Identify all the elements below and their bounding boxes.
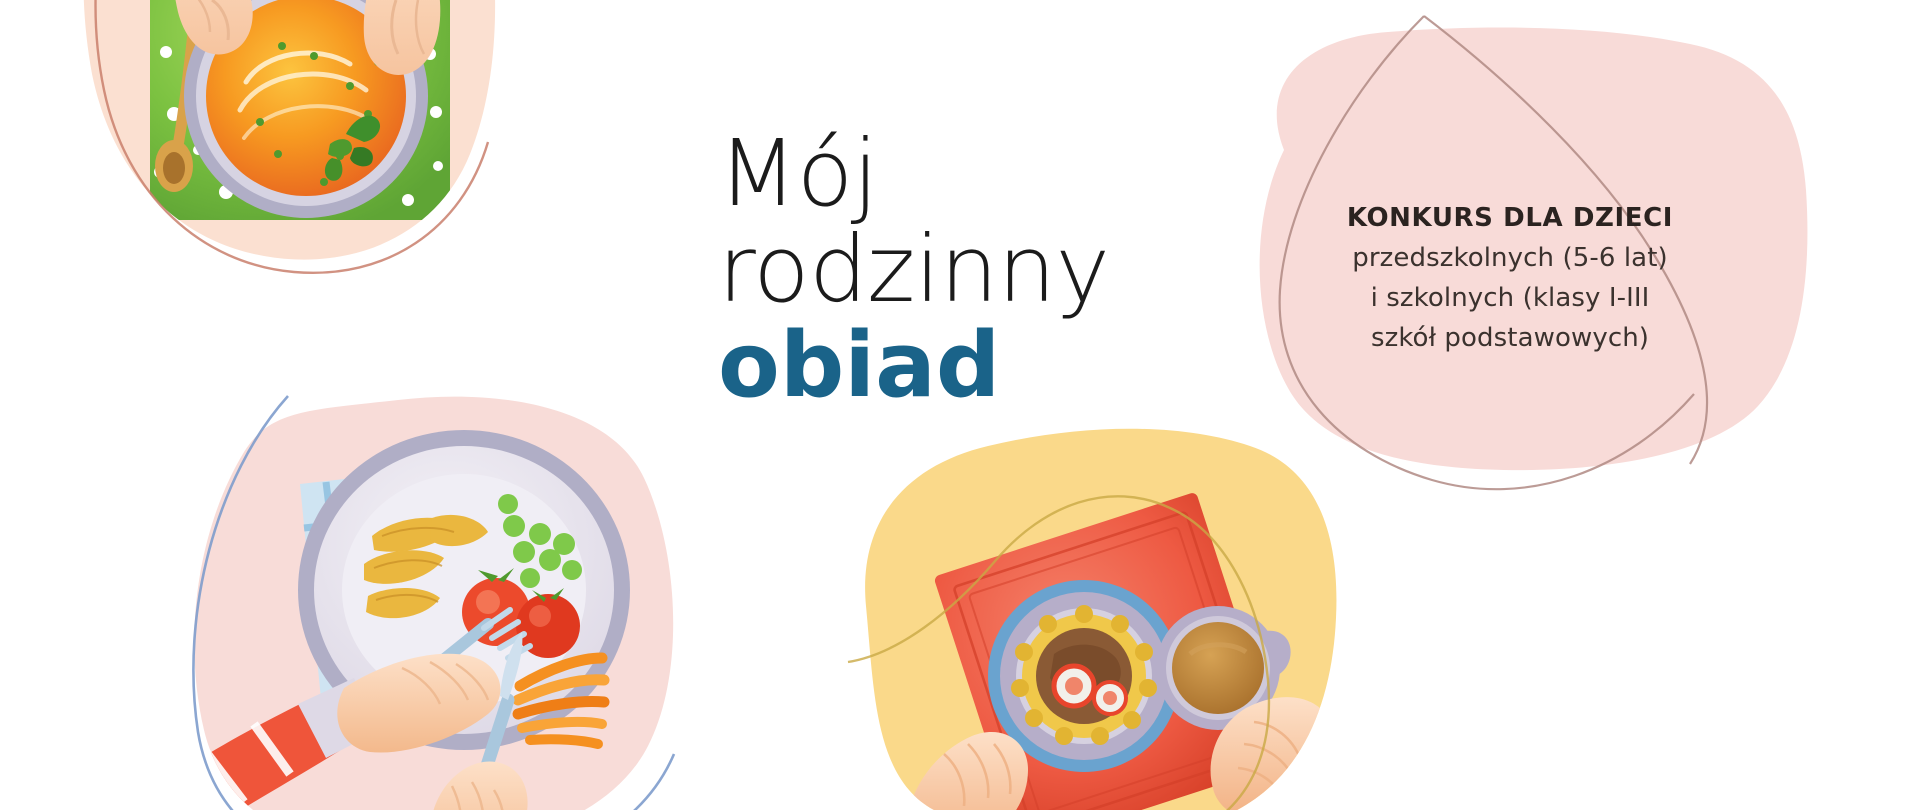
info-text-block: KONKURS DLA DZIECI przedszkolnych (5-6 l… xyxy=(1290,198,1730,358)
poster-title: Mój rodzinny obiad xyxy=(718,128,1178,412)
title-line-3: obiad xyxy=(718,320,1178,412)
poster-canvas: KONKURS DLA DZIECI przedszkolnych (5-6 l… xyxy=(0,0,1920,810)
info-line-2: przedszkolnych (5-6 lat) xyxy=(1290,238,1730,278)
plate-illustration-svg xyxy=(158,400,798,810)
info-line-3: i szkolnych (klasy I-III xyxy=(1290,278,1730,318)
illustration-soup-bowl xyxy=(78,0,558,424)
illustration-dinner-plate xyxy=(158,400,798,810)
info-headline: KONKURS DLA DZIECI xyxy=(1290,198,1730,238)
soup-illustration-svg xyxy=(78,0,558,424)
title-line-2: rodzinny xyxy=(718,224,1178,316)
title-line-1: Mój xyxy=(718,128,1178,220)
info-line-4: szkół podstawowych) xyxy=(1290,318,1730,358)
